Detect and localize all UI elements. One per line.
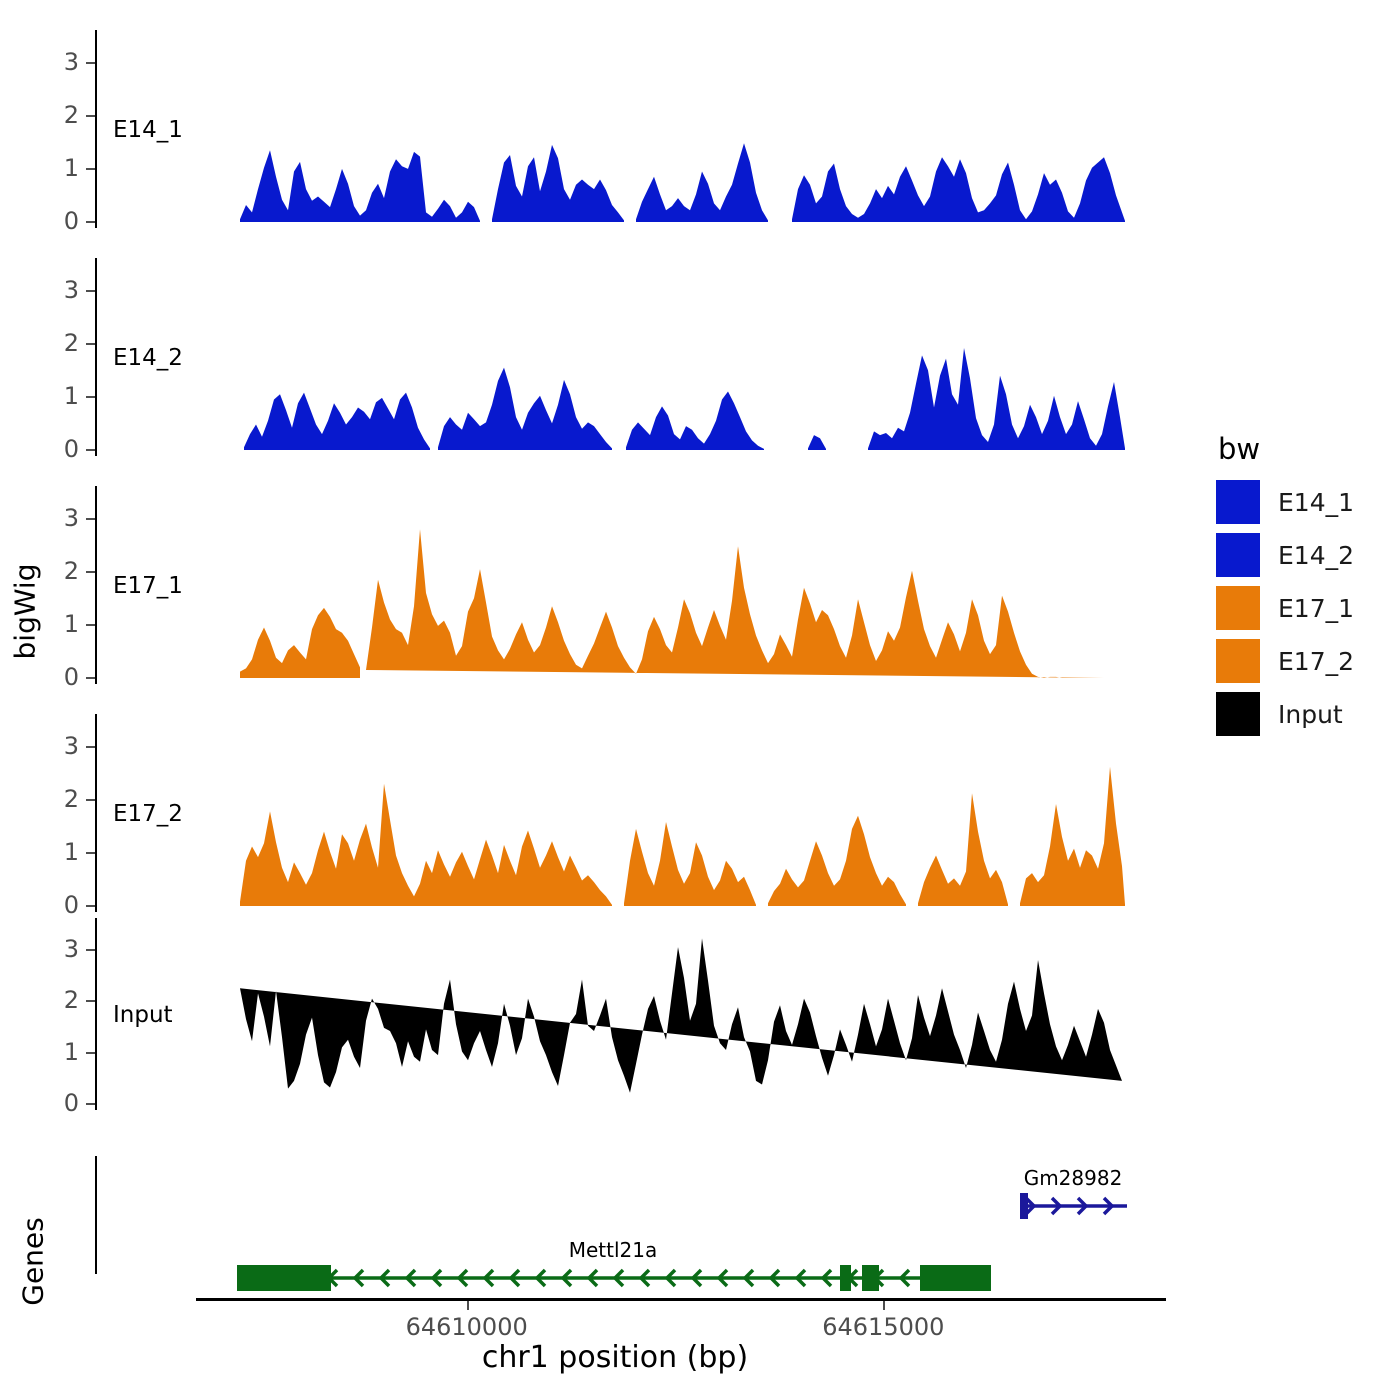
x-tick	[467, 1301, 469, 1310]
y-tick	[86, 746, 95, 748]
legend-color-swatch	[1216, 533, 1260, 577]
y-tick-label: 1	[39, 612, 79, 636]
x-tick	[883, 1301, 885, 1310]
y-tick	[86, 1052, 95, 1054]
y-tick-label: 3	[39, 278, 79, 302]
y-tick-label: 1	[39, 156, 79, 180]
legend-item-label: E14_2	[1278, 541, 1354, 570]
track-panel-e17_1: 0123E17_1	[0, 486, 1400, 684]
gene-name-label: Gm28982	[1024, 1166, 1123, 1190]
x-tick-label: 64615000	[793, 1313, 973, 1341]
x-axis-label: chr1 position (bp)	[0, 1340, 1230, 1375]
gene-exon	[920, 1265, 991, 1291]
legend-item-label: Input	[1278, 700, 1343, 729]
gene-models	[0, 1150, 1400, 1300]
y-tick-label: 2	[39, 787, 79, 811]
y-tick-label: 2	[39, 988, 79, 1012]
y-tick-label: 2	[39, 103, 79, 127]
coverage-segment	[636, 143, 768, 222]
y-tick-label: 0	[39, 437, 79, 461]
gene-annotation-panel: Gm28982Mettl21a 6461000064615000	[0, 1150, 1400, 1340]
coverage-segment	[366, 529, 1104, 678]
y-tick	[86, 518, 95, 520]
coverage-segment	[244, 393, 430, 450]
y-tick	[86, 449, 95, 451]
coverage-segment	[624, 822, 756, 906]
legend-color-swatch	[1216, 480, 1260, 524]
y-tick-label: 3	[39, 506, 79, 530]
y-tick	[86, 677, 95, 679]
y-tick-label: 1	[39, 1040, 79, 1064]
y-tick	[86, 168, 95, 170]
y-tick	[86, 1103, 95, 1105]
gene-model-gm28982[interactable]	[1020, 1193, 1127, 1219]
gene-exon	[237, 1265, 331, 1291]
y-tick	[86, 62, 95, 64]
track-area-input	[100, 918, 1160, 1110]
coverage-segment	[240, 608, 360, 678]
y-axis-line	[95, 714, 97, 912]
gene-exon	[840, 1265, 851, 1291]
y-tick-label: 0	[39, 665, 79, 689]
gene-exon	[862, 1265, 879, 1291]
track-panel-input: 0123Input	[0, 918, 1400, 1110]
coverage-segment	[626, 392, 764, 451]
y-tick-label: 0	[39, 1091, 79, 1115]
legend-item-label: E17_1	[1278, 594, 1354, 623]
coverage-segment	[918, 793, 1008, 906]
coverage-segment	[768, 816, 906, 906]
genome-browser-figure: bigWig Genes 0123E14_10123E14_20123E17_1…	[0, 0, 1400, 1400]
track-area-e14_1	[100, 30, 1160, 228]
coverage-segment	[808, 435, 826, 450]
y-tick	[86, 571, 95, 573]
legend-item-label: E14_1	[1278, 488, 1354, 517]
y-tick	[86, 343, 95, 345]
x-tick-label: 64610000	[377, 1313, 557, 1341]
coverage-segment	[438, 368, 612, 450]
y-tick-label: 0	[39, 893, 79, 917]
x-axis-baseline	[196, 1298, 1166, 1301]
coverage-segment	[240, 784, 612, 906]
y-tick	[86, 221, 95, 223]
y-tick-label: 1	[39, 840, 79, 864]
y-tick	[86, 290, 95, 292]
track-area-e14_2	[100, 258, 1160, 456]
gene-name-label: Mettl21a	[569, 1238, 658, 1262]
coverage-segment	[240, 150, 480, 222]
track-panel-e17_2: 0123E17_2	[0, 714, 1400, 912]
legend-item-label: E17_2	[1278, 647, 1354, 676]
y-tick-label: 1	[39, 384, 79, 408]
y-tick-label: 3	[39, 734, 79, 758]
legend-title: bw	[1218, 432, 1260, 466]
track-area-e17_2	[100, 714, 1160, 912]
y-tick	[86, 624, 95, 626]
y-tick	[86, 852, 95, 854]
coverage-segment	[1020, 767, 1125, 906]
y-tick	[86, 1000, 95, 1002]
y-axis-line	[95, 30, 97, 228]
y-tick	[86, 905, 95, 907]
y-axis-line	[95, 918, 97, 1110]
y-tick-label: 3	[39, 937, 79, 961]
track-area-e17_1	[100, 486, 1160, 684]
y-tick-label: 2	[39, 559, 79, 583]
coverage-segment	[792, 157, 1125, 222]
y-tick	[86, 396, 95, 398]
coverage-segment	[240, 938, 1122, 1092]
legend-color-swatch	[1216, 639, 1260, 683]
track-panel-e14_2: 0123E14_2	[0, 258, 1400, 456]
legend-color-swatch	[1216, 692, 1260, 736]
y-tick-label: 0	[39, 209, 79, 233]
gene-model-mettl21a[interactable]	[237, 1265, 991, 1291]
y-tick	[86, 949, 95, 951]
y-axis-line	[95, 258, 97, 456]
legend-color-swatch	[1216, 586, 1260, 630]
coverage-segment	[868, 348, 1125, 450]
y-tick-label: 2	[39, 331, 79, 355]
y-tick	[86, 115, 95, 117]
track-panel-e14_1: 0123E14_1	[0, 30, 1400, 228]
y-axis-line	[95, 486, 97, 684]
y-tick	[86, 799, 95, 801]
y-tick-label: 3	[39, 50, 79, 74]
coverage-segment	[492, 145, 624, 222]
gene-exon	[1020, 1193, 1028, 1219]
